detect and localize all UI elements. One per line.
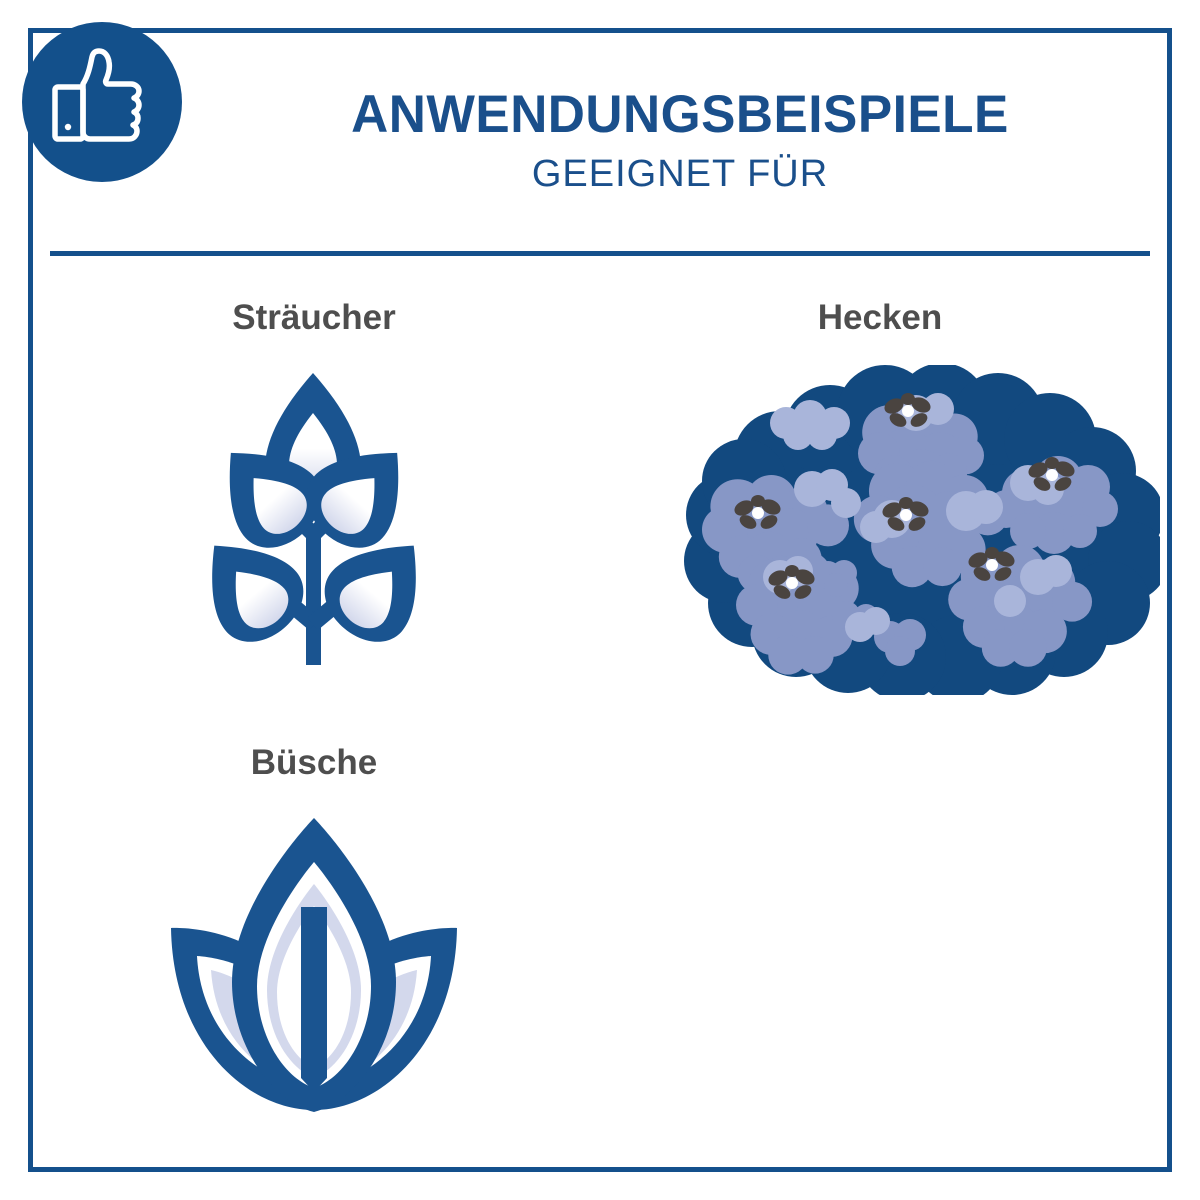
- example-icon-hecken: [680, 365, 1080, 695]
- example-item-buesche: Büsche: [114, 745, 514, 1120]
- page-title: ANWENDUNGSBEISPIELE: [214, 88, 1145, 141]
- header-divider: [50, 251, 1150, 256]
- example-item-straeucher: Sträucher: [114, 300, 514, 685]
- example-label-straeucher: Sträucher: [114, 300, 514, 335]
- thumbs-up-icon: [22, 22, 182, 182]
- example-icon-straeucher: [114, 365, 514, 685]
- bush-lotus-leaf-icon: [149, 810, 479, 1120]
- plant-branch-leaves-icon: [149, 365, 479, 685]
- page-subtitle: GEEIGNET FÜR: [200, 155, 1160, 193]
- example-icon-buesche: [114, 810, 514, 1120]
- example-label-hecken: Hecken: [680, 300, 1080, 335]
- application-examples-infographic: ANWENDUNGSBEISPIELE GEEIGNET FÜR Sträuch…: [0, 0, 1200, 1200]
- example-item-hecken: Hecken: [680, 300, 1080, 695]
- flowering-hedge-icon: [680, 365, 1160, 695]
- header-block: ANWENDUNGSBEISPIELE GEEIGNET FÜR: [200, 88, 1160, 193]
- example-label-buesche: Büsche: [114, 745, 514, 780]
- thumbs-up-badge: [22, 22, 182, 182]
